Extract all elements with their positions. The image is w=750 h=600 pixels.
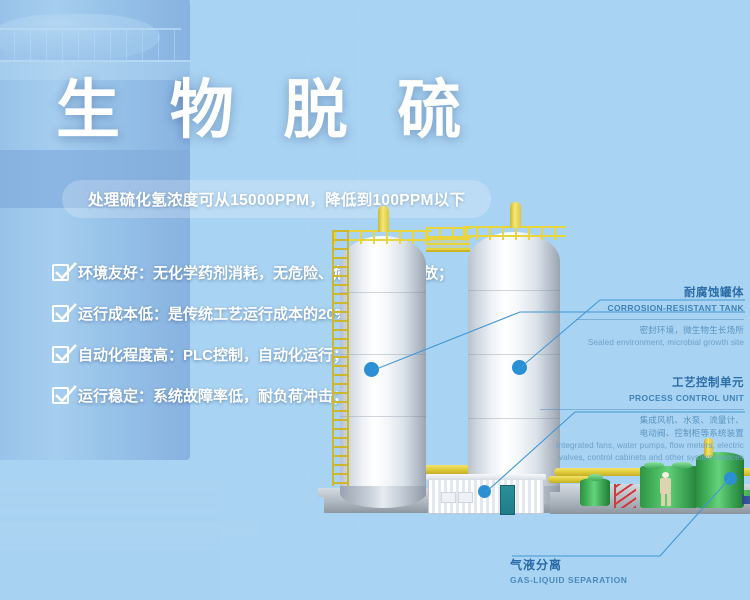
callout-title-cn: 耐腐蚀罐体	[558, 286, 744, 301]
control-building-roof	[426, 474, 546, 480]
green-vessel-small	[580, 478, 610, 506]
worker-figure-leg	[667, 494, 671, 506]
background-tank-railing	[0, 28, 181, 62]
tank-right-railing	[463, 226, 566, 240]
callout-gas-liquid-separation: 气液分离 GAS-LIQUID SEPARATION	[510, 556, 670, 585]
tank-left-vent	[378, 206, 389, 232]
checkbox-check-icon	[52, 305, 69, 322]
tank-seam	[468, 354, 560, 355]
callout-title-cn: 工艺控制单元	[522, 376, 744, 391]
checkbox-check-icon	[52, 264, 69, 281]
tank-seam	[340, 354, 426, 355]
background-pipe-run	[0, 522, 260, 536]
tank-seam	[340, 416, 426, 417]
green-vessel-small-lid	[588, 474, 603, 481]
access-stairs	[614, 484, 636, 508]
callout-desc-cn-line2: 电动阀、控制柜等系统装置	[522, 427, 744, 440]
tank-seam	[340, 292, 426, 293]
checkbox-check-icon	[52, 387, 69, 404]
callout-dot-tank-left[interactable]	[364, 362, 379, 377]
railing-midbar	[463, 235, 566, 237]
callout-desc-cn-line1: 集成风机、水泵、流量计、	[522, 414, 744, 427]
callout-corrosion-resistant-tank: 耐腐蚀罐体 CORROSION-RESISTANT TANK 密封环境，微生物生…	[558, 286, 744, 349]
callout-process-control-unit: 工艺控制单元 PROCESS CONTROL UNIT 集成风机、水泵、流量计、…	[522, 376, 744, 465]
skid-unit-top	[744, 490, 750, 496]
tank-left	[340, 236, 426, 498]
background-pipe-deck	[0, 480, 220, 600]
page-title: 生 物 脱 硫	[56, 78, 477, 142]
callout-divider	[576, 319, 744, 320]
poster-stage: 生 物 脱 硫 处理硫化氢浓度可从15000PPM，降低到100PPM以下 环境…	[0, 0, 750, 600]
callout-title-en: PROCESS CONTROL UNIT	[522, 392, 744, 405]
callout-dot-separator[interactable]	[724, 472, 737, 485]
worker-figure-body	[660, 478, 671, 494]
checkbox-check-icon	[52, 346, 69, 363]
worker-figure-leg	[661, 494, 665, 506]
callout-desc-en-line1: Integrated fans, water pumps, flow meter…	[522, 440, 744, 452]
callout-dot-control-building[interactable]	[478, 485, 491, 498]
control-building-door	[500, 485, 515, 515]
callout-title-en: CORROSION-RESISTANT TANK	[558, 302, 744, 315]
callout-desc-en: Sealed environment, microbial growth sit…	[558, 337, 744, 349]
tank-ladder	[332, 230, 349, 486]
control-building-window	[441, 492, 456, 503]
callout-desc-en-line2: valves, control cabinets and other syste…	[522, 452, 744, 464]
callout-title-en: GAS-LIQUID SEPARATION	[510, 575, 670, 585]
tank-seam	[468, 290, 560, 291]
callout-title-cn: 气液分离	[510, 556, 670, 573]
callout-divider	[540, 409, 744, 410]
callout-desc-cn: 密封环境，微生物生长场所	[558, 324, 744, 337]
callout-dot-tank-right[interactable]	[512, 360, 527, 375]
tank-right-vent	[510, 202, 521, 228]
control-building-window	[458, 492, 473, 503]
